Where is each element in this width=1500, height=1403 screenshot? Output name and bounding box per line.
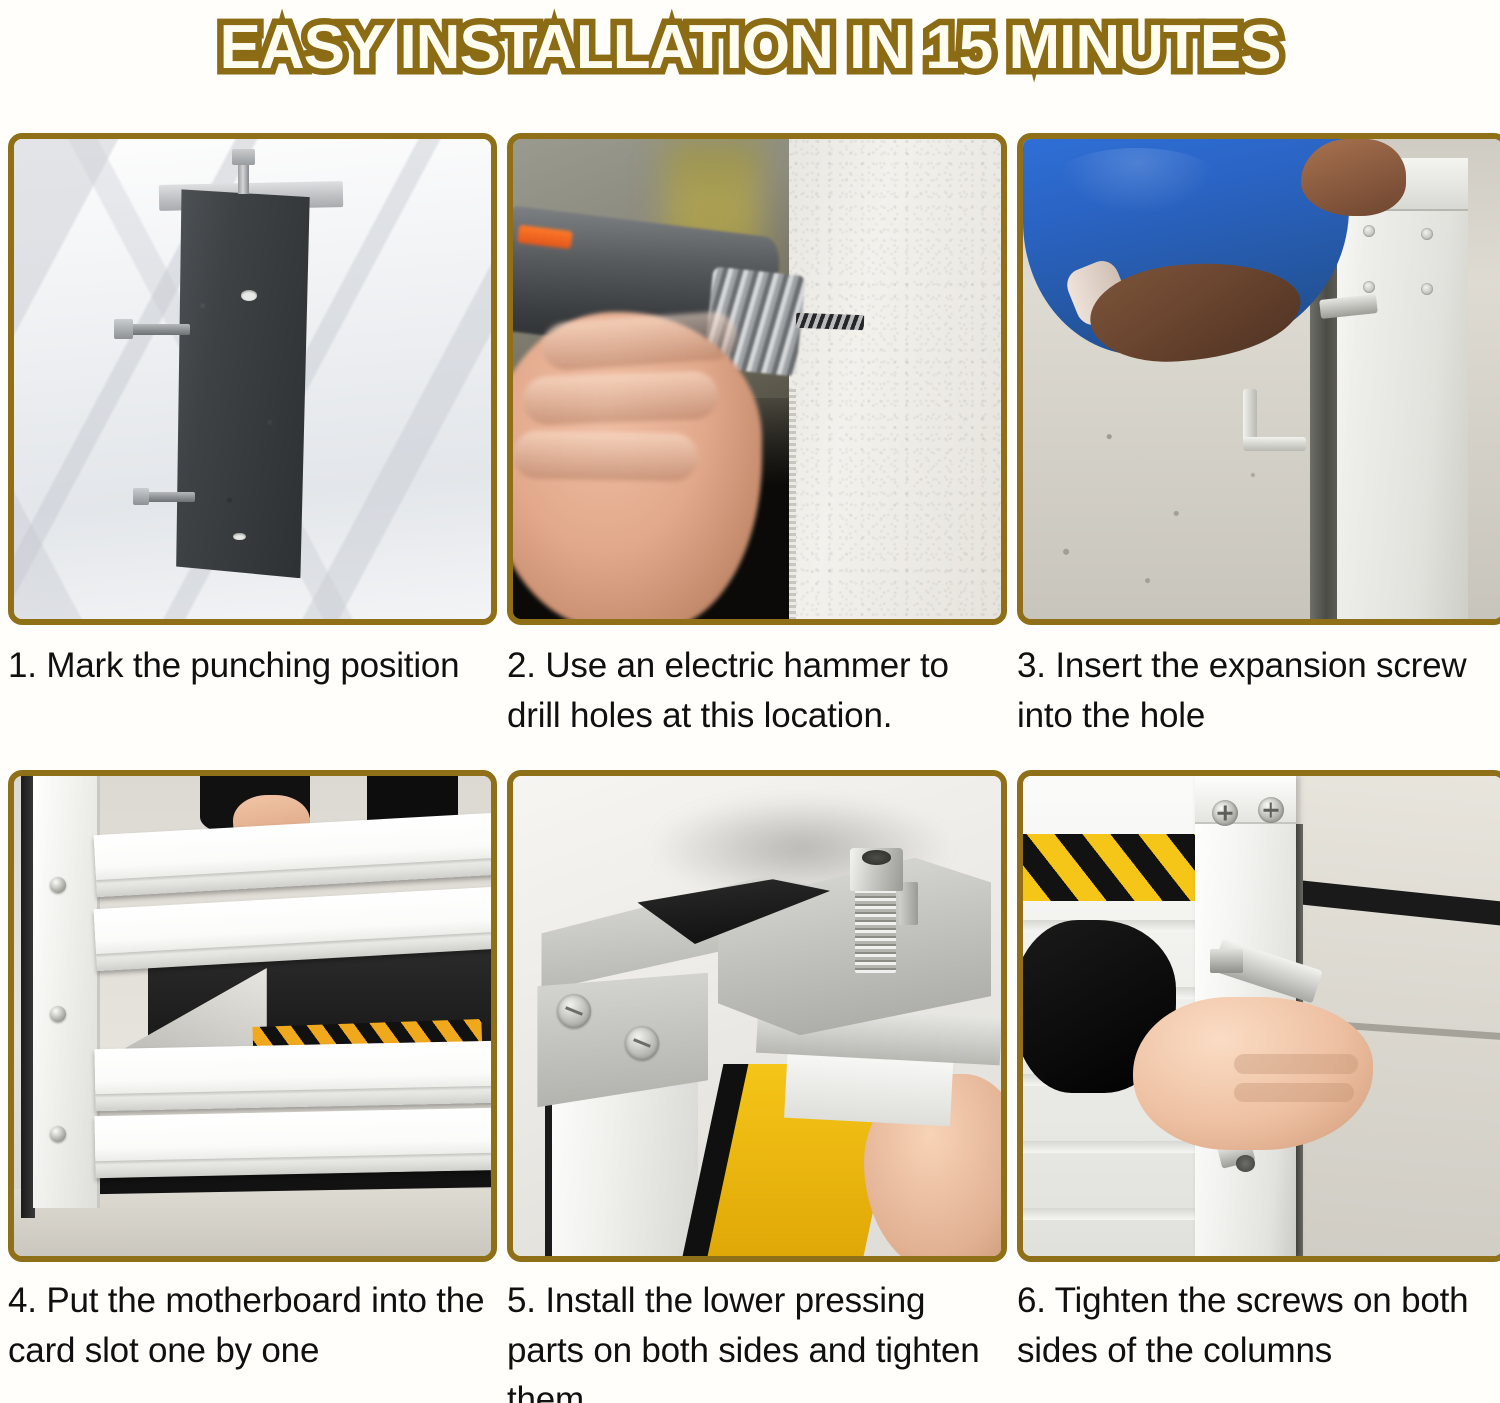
step-3-photo-panel [1017,133,1500,625]
wall-texture [789,139,1001,619]
barrier-column [1330,158,1469,619]
step-3-caption: 3. Insert the expansion screw into the h… [1017,625,1500,770]
top-bolt-head [232,149,256,165]
steps-grid: 1. Mark the punching position 2. Use an … [8,133,1492,1395]
thumbscrew-thread [855,882,896,973]
step-2-photo-panel [507,133,1007,625]
step-5-photo [513,776,1001,1256]
screwdriver-tip [1210,949,1244,973]
barrier-board-4 [94,1108,491,1179]
marking-hole-lower [233,533,245,541]
column-screw-4 [1421,283,1433,295]
step-5-caption: 5. Install the lower pressing parts on b… [507,1262,1007,1395]
shirt-fold-highlight [1049,148,1225,221]
step-5-photo-panel [507,770,1007,1262]
step-2-photo [513,139,1001,619]
phillips-screw-2 [625,1026,659,1060]
top-phillips-screw-2 [1258,797,1284,823]
white-wall [789,139,1001,619]
column-screw-3 [1363,281,1375,293]
step-3-photo [1023,139,1500,619]
step-6-caption: 6. Tighten the screws on both sides of t… [1017,1262,1500,1395]
step-6-photo [1023,776,1500,1256]
lower-screw-nut [1236,1155,1255,1171]
drill-bit [796,313,865,331]
barrier-board-3 [94,1041,491,1112]
finger-2 [522,371,719,426]
side-stud-upper-cap [114,319,133,339]
step-1-photo-panel [8,133,497,625]
title-banner: EASY INSTALLATION IN 15 MINUTES [0,0,1500,96]
column-bolt-1 [50,877,66,893]
worker-upper-hand [1301,139,1406,216]
allen-key-icon [1243,389,1305,451]
allen-key-short-arm [1243,437,1305,451]
step-4-photo [14,776,491,1256]
thumbscrew-socket [862,850,891,864]
step-2-caption: 2. Use an electric hammer to drill holes… [507,625,1007,770]
tightening-hand [1133,997,1373,1151]
card-slot-column [33,776,100,1208]
panel-slat-5 [1023,1208,1215,1220]
wall-edge [789,389,796,619]
column-base-plate [176,189,310,578]
column-screw-2 [1421,228,1433,240]
plate-texture [176,189,310,578]
hand-finger-2 [1234,1083,1354,1102]
panel-slat-4 [1023,1141,1215,1153]
side-stud-lower-cap [133,488,149,504]
page-title: EASY INSTALLATION IN 15 MINUTES [220,17,1281,79]
step-1-caption: 1. Mark the punching position [8,625,497,770]
hand-finger-1 [1234,1054,1359,1073]
step-6-photo-panel [1017,770,1500,1262]
marking-hole-upper [241,290,257,301]
infographic-page: EASY INSTALLATION IN 15 MINUTES [0,0,1500,1403]
step-4-caption: 4. Put the motherboard into the card slo… [8,1262,497,1395]
hazard-stripe-panel [1023,834,1205,901]
finger-3 [513,430,699,481]
step-1-photo [14,139,491,619]
step-4-photo-panel [8,770,497,1262]
